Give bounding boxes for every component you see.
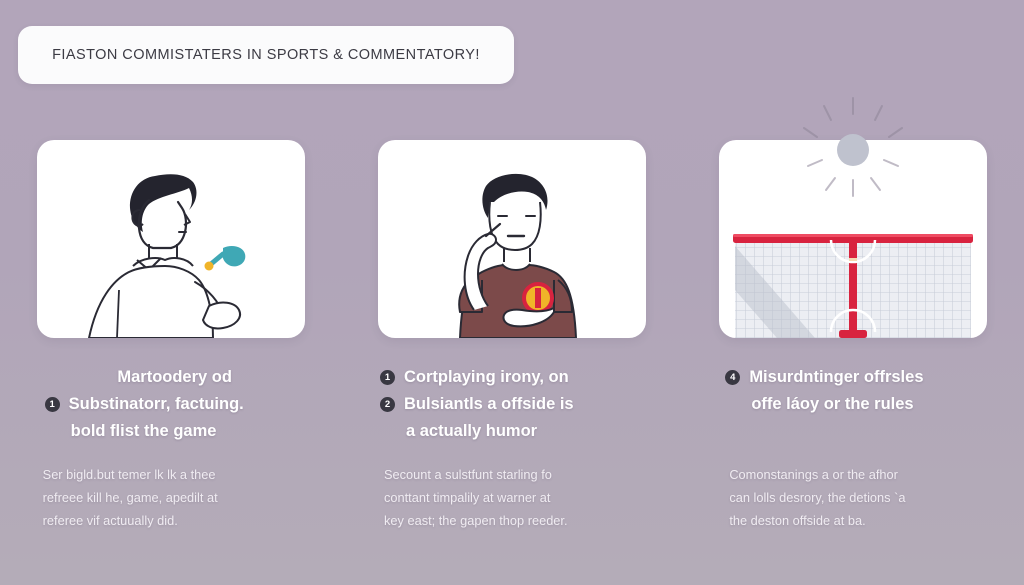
step-badge: 1 <box>380 370 395 385</box>
jersey-badge-icon <box>524 284 552 312</box>
page-title: FIASTON COMMISTATERS IN SPORTS & COMMENT… <box>52 47 480 63</box>
columns-container: Martoodery od 1 Substinatorr, factuing. … <box>0 140 1024 560</box>
goal-net-illustration <box>719 140 987 338</box>
step-badge: 1 <box>45 397 60 412</box>
illustration-card-offside <box>719 140 987 338</box>
column-offside: 4 Misurdntinger offrsles offe láoy or th… <box>683 140 1024 560</box>
heading-line: 2 Bulsiantls a offside is <box>380 391 646 418</box>
heading-spacer <box>725 418 987 445</box>
heading-line: offe láoy or the rules <box>725 391 987 418</box>
whistle-icon <box>204 246 245 271</box>
column-heading: Martoodery od 1 Substinatorr, factuing. … <box>37 364 305 445</box>
column-body: Comonstanings a or the afhor can lolls d… <box>719 463 987 532</box>
heading-line: 1 Substinatorr, factuing. <box>45 391 305 418</box>
heading-line: 4 Misurdntinger offrsles <box>725 364 987 391</box>
player-illustration <box>378 140 646 338</box>
column-player: 1 Cortplaying irony, on 2 Bulsiantls a o… <box>341 140 682 560</box>
heading-line: 1 Cortplaying irony, on <box>380 364 646 391</box>
heading-line: bold flist the game <box>45 418 305 445</box>
column-referee: Martoodery od 1 Substinatorr, factuing. … <box>0 140 341 560</box>
heading-line: a actually humor <box>380 418 646 445</box>
column-heading: 4 Misurdntinger offrsles offe láoy or th… <box>719 364 987 445</box>
header-banner: FIASTON COMMISTATERS IN SPORTS & COMMENT… <box>18 26 514 84</box>
illustration-card-referee <box>37 140 305 338</box>
column-heading: 1 Cortplaying irony, on 2 Bulsiantls a o… <box>378 364 646 445</box>
referee-illustration <box>37 140 305 338</box>
column-body: Ser bigld.but temer lk lk a thee refreee… <box>37 463 305 532</box>
column-body: Secount a sulstfunt starling fo conttant… <box>378 463 646 532</box>
step-badge: 4 <box>725 370 740 385</box>
illustration-card-player <box>378 140 646 338</box>
step-badge: 2 <box>380 397 395 412</box>
heading-line: Martoodery od <box>45 364 305 391</box>
